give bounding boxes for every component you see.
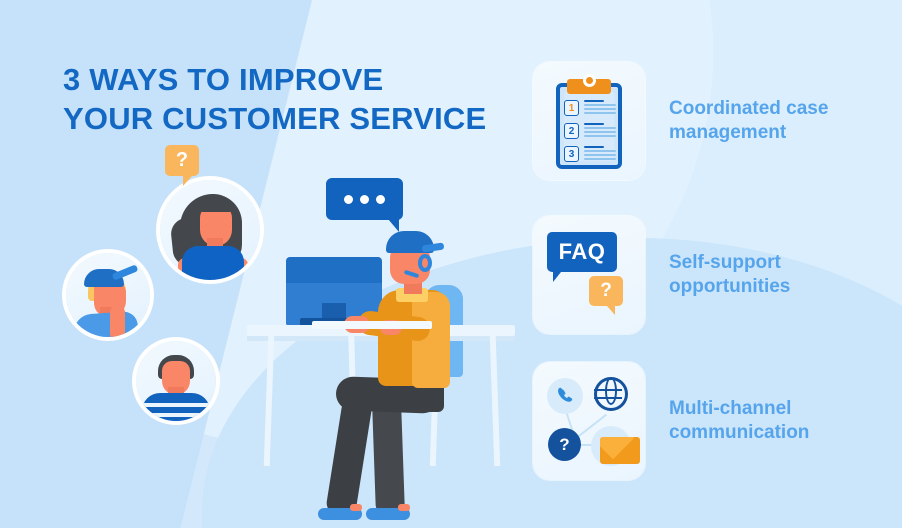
support-agent-figure	[360, 228, 480, 488]
title-line-2: YOUR CUSTOMER SERVICE	[63, 99, 493, 138]
question-bubble-tail	[607, 306, 615, 315]
avatar-shirt-stripe	[142, 413, 210, 417]
envelope-icon	[600, 437, 640, 464]
clipboard-row: 2	[564, 123, 616, 139]
feature-label: Coordinated case management	[669, 97, 828, 145]
agent-heel-right	[398, 504, 410, 511]
customer-avatar-striped	[136, 341, 216, 421]
question-bubble: ?	[589, 276, 623, 306]
avatar-shirt	[73, 311, 139, 337]
keyboard	[312, 321, 432, 329]
customer-question-bubble-tail	[183, 176, 192, 186]
agent-heel-left	[350, 504, 362, 511]
feature-label: Multi-channel communication	[669, 397, 809, 445]
feature-icon-card: FAQ ?	[533, 216, 645, 334]
faq-speech-bubble-icon: FAQ ?	[547, 232, 633, 318]
typing-dot	[360, 195, 369, 204]
faq-bubble-tail	[553, 272, 561, 282]
avatar-cap-brim	[112, 264, 139, 280]
avatar-bangs	[198, 198, 232, 212]
customer-avatar-woman	[160, 180, 260, 280]
feature-self-support-opportunities[interactable]: FAQ ? Self-support opportunities	[533, 216, 790, 334]
agent-cap-brim	[422, 243, 445, 253]
customer-avatar-cap	[66, 253, 150, 337]
typing-dot	[376, 195, 385, 204]
feature-multi-channel-communication[interactable]: ? Multi-channel communication	[533, 362, 809, 480]
clipboard-checklist-icon: 1 2 3	[556, 74, 622, 169]
agent-shin-right	[372, 400, 405, 517]
avatar-arm	[110, 305, 125, 337]
feature-coordinated-case-management[interactable]: 1 2 3	[533, 62, 828, 180]
checklist-text-lines	[584, 123, 616, 140]
clipboard-rows: 1 2 3	[564, 100, 616, 169]
avatar-shirt	[182, 246, 244, 280]
checklist-number: 2	[564, 123, 579, 139]
customer-question-bubble: ?	[165, 145, 199, 176]
checklist-text-lines	[584, 146, 616, 163]
headset-earpiece-icon	[418, 254, 432, 272]
globe-icon	[594, 377, 628, 411]
checklist-number: 3	[564, 146, 579, 162]
multi-channel-network-icon: ?	[544, 374, 636, 469]
checklist-text-lines	[584, 100, 616, 117]
agent-speech-bubble	[326, 178, 403, 220]
feature-icon-card: 1 2 3	[533, 62, 645, 180]
faq-bubble: FAQ	[547, 232, 617, 272]
clipboard-clip-knob	[583, 74, 596, 87]
title-line-1: 3 WAYS TO IMPROVE	[63, 62, 383, 97]
clipboard-row: 1	[564, 100, 616, 116]
typing-dot	[344, 195, 353, 204]
feature-icon-card: ?	[533, 362, 645, 480]
infographic-canvas: 3 WAYS TO IMPROVE YOUR CUSTOMER SERVICE	[0, 0, 902, 528]
clipboard-row: 3	[564, 146, 616, 162]
feature-label: Self-support opportunities	[669, 251, 790, 299]
avatar-shirt-stripe	[142, 403, 210, 407]
page-title: 3 WAYS TO IMPROVE YOUR CUSTOMER SERVICE	[63, 60, 493, 138]
question-circle-icon: ?	[548, 428, 581, 461]
checklist-number: 1	[564, 100, 579, 116]
phone-icon	[555, 385, 575, 406]
